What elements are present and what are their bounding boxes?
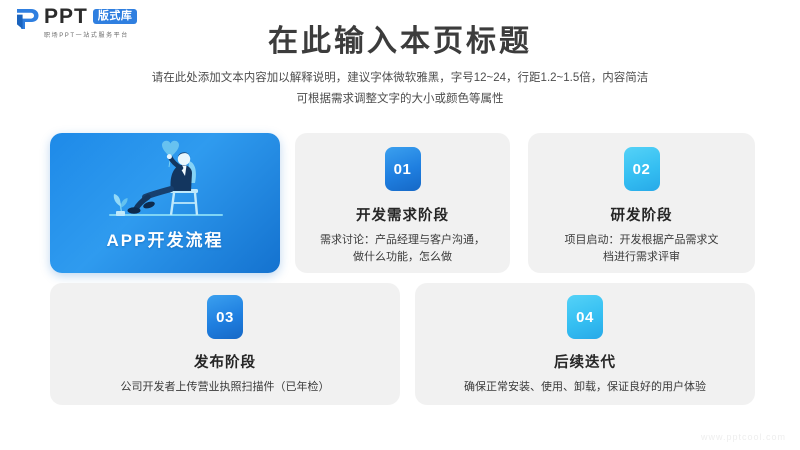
stage-title-03: 发布阶段 (194, 351, 256, 372)
subtitle-line-1: 请在此处添加文本内容加以解释说明，建议字体微软雅黑，字号12~24，行距1.2~… (0, 68, 800, 89)
stage-desc-03-line-1: 公司开发者上传营业执照扫描件（已年检） (65, 379, 385, 396)
stage-desc-01-line-1: 需求讨论：产品经理与客户沟通， (305, 232, 501, 249)
stage-title-04: 后续迭代 (554, 351, 616, 372)
stage-card-03[interactable]: 03 发布阶段 公司开发者上传营业执照扫描件（已年检） (50, 283, 400, 405)
stage-desc-01: 需求讨论：产品经理与客户沟通， 做什么功能，怎么做 (305, 232, 501, 266)
stage-badge-04: 04 (567, 295, 603, 339)
subtitle-line-2: 可根据需求调整文字的大小或颜色等属性 (0, 89, 800, 110)
stage-badge-03: 03 (207, 295, 243, 339)
stage-desc-02-line-2: 档进行需求评审 (544, 249, 740, 266)
stage-card-01[interactable]: 01 开发需求阶段 需求讨论：产品经理与客户沟通， 做什么功能，怎么做 (295, 133, 510, 273)
stage-desc-03: 公司开发者上传营业执照扫描件（已年检） (65, 379, 385, 396)
stage-desc-02: 项目启动：开发根据产品需求文 档进行需求评审 (544, 232, 740, 266)
page-subtitle: 请在此处添加文本内容加以解释说明，建议字体微软雅黑，字号12~24，行距1.2~… (0, 68, 800, 111)
stage-desc-01-line-2: 做什么功能，怎么做 (305, 249, 501, 266)
stage-title-02: 研发阶段 (611, 204, 673, 225)
businessman-sitting-with-heart-balloon-illustration (50, 137, 280, 223)
hero-card-app-process[interactable]: APP开发流程 (50, 133, 280, 273)
stage-badge-01: 01 (385, 147, 421, 191)
stage-card-04[interactable]: 04 后续迭代 确保正常安装、使用、卸载，保证良好的用户体验 (415, 283, 755, 405)
stage-title-01: 开发需求阶段 (356, 204, 449, 225)
page-title: 在此输入本页标题 (0, 16, 800, 60)
slide-canvas: PPT 版式库 职场PPT一站式服务平台 在此输入本页标题 请在此处添加文本内容… (0, 0, 800, 450)
stage-card-02[interactable]: 02 研发阶段 项目启动：开发根据产品需求文 档进行需求评审 (528, 133, 755, 273)
stage-badge-02: 02 (624, 147, 660, 191)
site-watermark: www.pptcool.com (701, 432, 786, 442)
stage-desc-04-line-1: 确保正常安装、使用、卸载，保证良好的用户体验 (425, 379, 745, 396)
stage-desc-02-line-1: 项目启动：开发根据产品需求文 (544, 232, 740, 249)
hero-card-label: APP开发流程 (50, 226, 280, 251)
stage-desc-04: 确保正常安装、使用、卸载，保证良好的用户体验 (425, 379, 745, 396)
